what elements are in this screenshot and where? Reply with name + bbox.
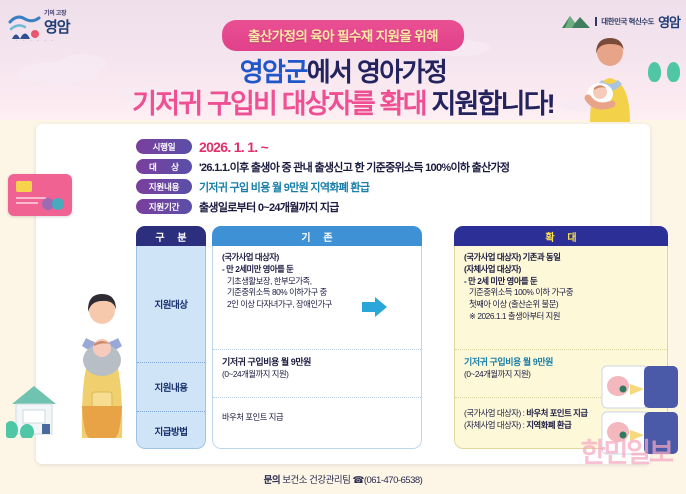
table-header-existing: 기 존 [212,226,422,246]
cell-existing-content: 기저귀 구입비용 월 9만원 (0~24개월까지 지원) [213,350,421,398]
mother-with-baby-illustration [570,38,648,122]
card-chip-icon [16,181,32,192]
info-value-target: '26.1.1.이후 출생아 중 관내 출생신고 한 기준중위소득 100%이하… [199,159,509,175]
info-tag-support-content: 지원내용 [136,179,192,194]
cell-expanded-target: (국가사업 대상자) 기존과 동일 (자체사업 대상자) - 만 2세 미만 영… [455,246,667,350]
banner-pill-label: 출산가정의 육아 필수재 지원을 위해 [222,20,464,51]
watermark-text: 한민일보 [581,431,672,470]
existing-content-main: 기저귀 구입비용 월 9만원 [222,356,412,369]
existing-method-value: 바우처 포인트 지급 [222,404,412,424]
row-label-method: 지급방법 [137,412,205,449]
table-header-category: 구 분 [136,226,206,246]
info-value-start-date: 2026. 1. 1. ~ [199,139,268,155]
table-column-category: 구 분 지원대상 지원내용 지급방법 [136,226,206,449]
info-row-start-date: 시행일 2026. 1. 1. ~ [136,138,656,155]
father-with-baby-illustration [66,288,138,438]
existing-target-line-0: (국가사업 대상자) [222,252,412,264]
expanded-target-line-2: - 만 2세 미만 영아를 둔 [464,276,658,288]
tree-decoration-group [646,62,680,87]
tree-icon [648,62,661,82]
logo-dots: · · · · · · [16,38,55,44]
program-info-list: 시행일 2026. 1. 1. ~ 대 상 '26.1.1.이후 출생아 중 관… [136,138,656,218]
expanded-target-line-1: (자체사업 대상자) [464,264,658,276]
table-column-existing-body: (국가사업 대상자) - 만 2세미만 영아를 둔 기초생활보장, 한부모가족,… [212,246,422,449]
info-value-support-period: 출생일로부터 0~24개월까지 지급 [199,199,339,215]
expanded-target-line-4: 첫째아 이상 (출산순위 불문) [464,299,658,311]
existing-content-sub: (0~24개월까지 지원) [222,369,412,381]
expanded-method-1-value: 바우처 포인트 지급 [526,408,587,418]
expanded-method-1-label: (국가사업 대상자) : [464,408,526,418]
mountain-icon [561,13,591,29]
expanded-method-2-value: 지역화폐 환급 [526,420,571,430]
info-tag-start-date: 시행일 [136,139,192,154]
expanded-method-2-label: (자체사업 대상자) : [464,420,526,430]
card-line [16,197,46,199]
row-label-target: 지원대상 [137,246,205,363]
logo-divider [595,17,597,26]
table-column-category-body: 지원대상 지원내용 지급방법 [136,246,206,449]
table-header-expanded: 확 대 [454,226,668,246]
cell-existing-method: 바우처 포인트 지급 [213,398,421,446]
headline-line-2-rest: 지원합니다! [426,89,554,119]
footer-label: 문의 [264,475,280,486]
innovation-capital-logo: 대한민국 혁신수도 영암 [561,8,680,34]
card-circle-icon [52,198,64,210]
row-label-content: 지원내용 [137,363,205,412]
local-currency-card-illustration [8,174,72,216]
innovation-logo-name: 영암 [658,12,680,31]
info-row-target: 대 상 '26.1.1.이후 출생아 중 관내 출생신고 한 기준중위소득 10… [136,158,656,175]
footer-text: 보건소 건강관리팀 ☎(061-470-6538) [280,475,422,486]
house-illustration [6,380,62,438]
table-column-existing: 기 존 (국가사업 대상자) - 만 2세미만 영아를 둔 기초생활보장, 한부… [212,226,422,449]
existing-target-line-1: - 만 2세미만 영아를 둔 [222,264,412,276]
yeongam-county-logo: 기의 고장 영암 · · · · · · [8,6,94,48]
footer-contact: 문의 보건소 건강관리팀 ☎(061-470-6538) [0,472,686,486]
card-line [16,202,38,204]
poster-root: 기의 고장 영암 · · · · · · 대한민국 혁신수도 영암 출산가정의 … [0,0,686,494]
headline-emphasis: 기저귀 구입비 대상자를 확대 [132,89,426,119]
info-tag-support-period: 지원기간 [136,199,192,214]
info-tag-target: 대 상 [136,159,192,174]
existing-target-line-2: 기초생활보장, 한부모가족, [222,276,412,288]
logo-name: 영암 [44,16,70,37]
info-value-support-content: 기저귀 구입 비용 월 9만원 지역화폐 환급 [199,179,369,195]
innovation-tagline: 대한민국 혁신수도 [601,16,654,27]
info-row-support-period: 지원기간 출생일로부터 0~24개월까지 지급 [136,198,656,215]
right-arrow-icon [362,296,388,318]
expanded-target-line-3: 기준중위소득 100% 이하 가구중 [464,287,658,299]
expanded-target-line-0: (국가사업 대상자) 기존과 동일 [464,252,658,264]
comparison-table: 구 분 지원대상 지원내용 지급방법 기 존 (국가사업 대상자) - 만 2세… [136,226,668,449]
tree-icon [667,62,680,82]
cell-existing-target: (국가사업 대상자) - 만 2세미만 영아를 둔 기초생활보장, 한부모가족,… [213,246,421,350]
info-row-support-content: 지원내용 기저귀 구입 비용 월 9만원 지역화폐 환급 [136,178,656,195]
expanded-target-line-5: ※ 2026.1.1 출생아부터 지원 [464,311,658,323]
